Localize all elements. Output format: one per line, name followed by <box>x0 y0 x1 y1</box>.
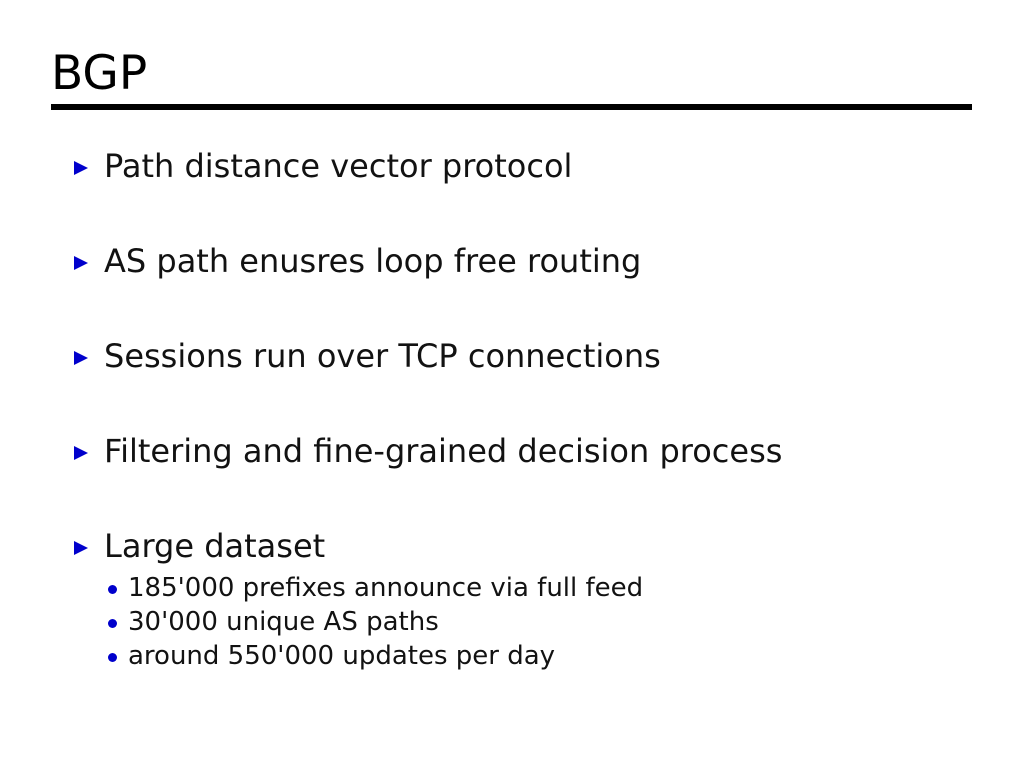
triangle-right-icon <box>72 254 92 272</box>
sub-list-item[interactable]: 30'000 unique AS paths <box>108 606 1002 639</box>
sub-list: 185'000 prefixes announce via full feed … <box>108 572 1002 673</box>
list-item-label: Filtering and fine-grained decision proc… <box>104 431 1002 471</box>
dot-icon <box>108 619 117 628</box>
list-item[interactable]: Large dataset <box>72 526 1002 566</box>
list-item[interactable]: Filtering and fine-grained decision proc… <box>72 431 1002 471</box>
sub-list-item-label: 185'000 prefixes announce via full feed <box>128 572 1002 605</box>
triangle-right-icon <box>72 349 92 367</box>
list-item-label: Large dataset <box>104 526 1002 566</box>
list-item-label: AS path enusres loop free routing <box>104 241 1002 281</box>
sub-list-item-label: around 550'000 updates per day <box>128 640 1002 673</box>
sub-list-item[interactable]: around 550'000 updates per day <box>108 640 1002 673</box>
triangle-right-icon <box>72 444 92 462</box>
title-block: BGP <box>51 48 972 110</box>
list-item[interactable]: AS path enusres loop free routing <box>72 241 1002 281</box>
list-item-group: Large dataset 185'000 prefixes announce … <box>72 526 1002 673</box>
list-item[interactable]: Path distance vector protocol <box>72 146 1002 186</box>
list-item-label: Path distance vector protocol <box>104 146 1002 186</box>
sub-list-item-label: 30'000 unique AS paths <box>128 606 1002 639</box>
title-divider <box>51 104 972 110</box>
list-item[interactable]: Sessions run over TCP connections <box>72 336 1002 376</box>
triangle-right-icon <box>72 159 92 177</box>
dot-icon <box>108 585 117 594</box>
list-item-label: Sessions run over TCP connections <box>104 336 1002 376</box>
sub-list-item[interactable]: 185'000 prefixes announce via full feed <box>108 572 1002 605</box>
slide: BGP Path distance vector protocol AS pat… <box>0 0 1024 768</box>
dot-icon <box>108 653 117 662</box>
triangle-right-icon <box>72 539 92 557</box>
bullet-list: Path distance vector protocol AS path en… <box>72 146 1002 674</box>
page-title: BGP <box>51 48 972 100</box>
